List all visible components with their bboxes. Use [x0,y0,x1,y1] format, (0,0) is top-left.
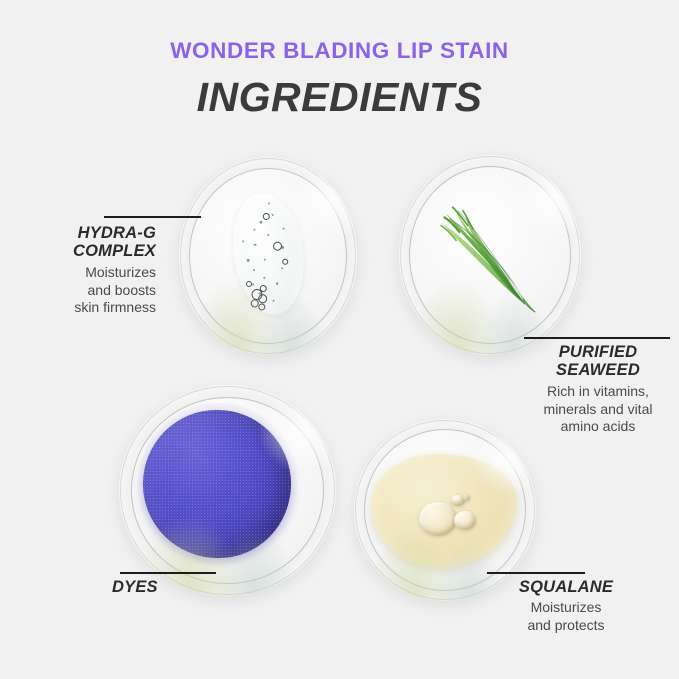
label-hydra-g: HYDRA-G COMPLEX Moisturizes and boosts s… [28,224,156,317]
leader-line-seaweed [524,337,670,339]
ingredient-name: PURIFIED SEAWEED [523,343,673,380]
petri-dish-hydra-g [179,157,357,355]
dish-rim [399,155,581,355]
ingredient-name: DYES [112,578,224,596]
label-seaweed: PURIFIED SEAWEED Rich in vitamins, miner… [523,343,673,436]
dish-rim [119,385,336,596]
petri-dish-dyes [119,385,336,596]
ingredient-name: SQUALANE [478,578,654,596]
leader-line-squalane [487,572,585,574]
ingredient-description: Moisturizes and protects [478,599,654,634]
ingredient-description: Rich in vitamins, minerals and vital ami… [523,383,673,436]
leader-line-hydra-g [104,216,201,218]
page-title: INGREDIENTS [0,77,679,118]
ingredient-description: Moisturizes and boosts skin firmness [28,264,156,317]
petri-dish-seaweed [399,155,581,355]
dish-rim [179,157,357,355]
ingredients-infographic: WONDER BLADING LIP STAIN INGREDIENTS [0,0,679,679]
ingredient-name: HYDRA-G COMPLEX [28,224,156,261]
brand-title: WONDER BLADING LIP STAIN [0,40,679,63]
heading-block: WONDER BLADING LIP STAIN INGREDIENTS [0,40,679,118]
label-squalane: SQUALANE Moisturizes and protects [478,578,654,635]
leader-line-dyes [120,572,216,574]
label-dyes: DYES [112,578,224,599]
